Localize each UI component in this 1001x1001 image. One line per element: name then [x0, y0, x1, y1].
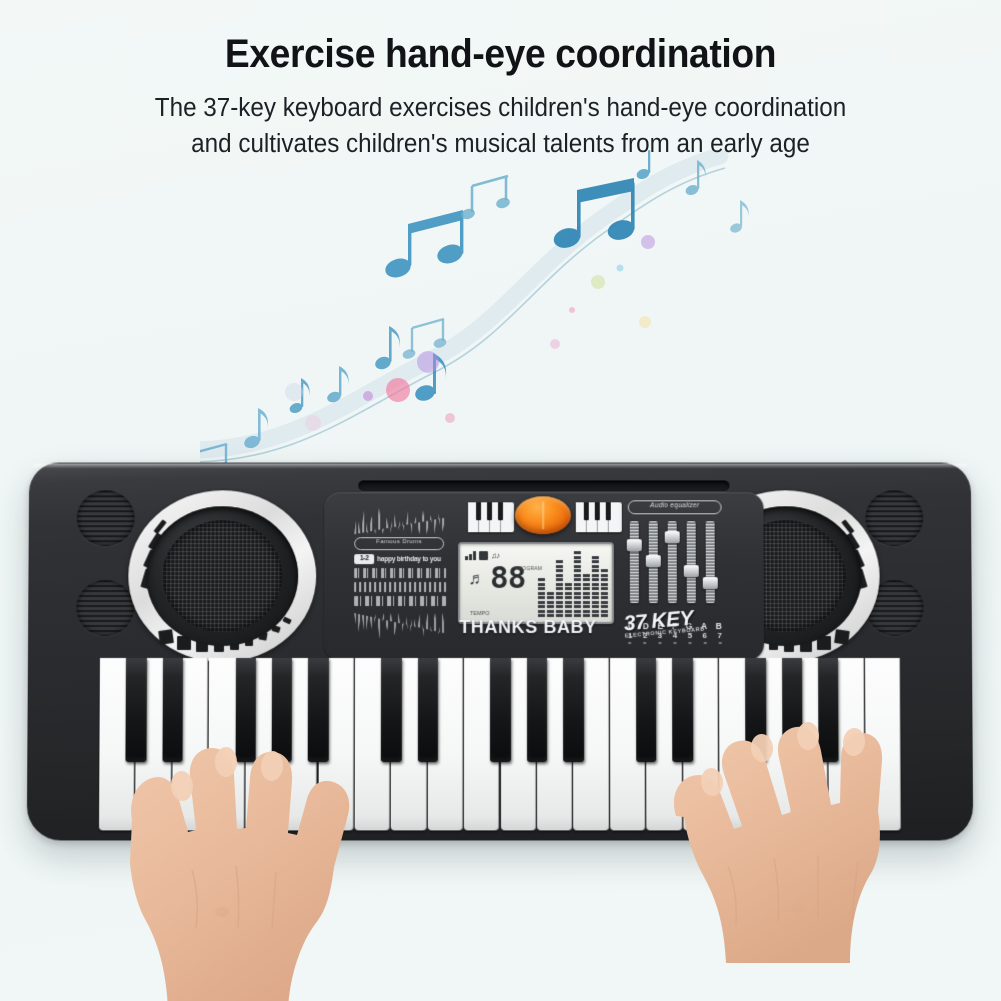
note-marks-row: = = = = = = = [628, 640, 722, 648]
black-key[interactable] [417, 658, 438, 762]
equalizer-slider[interactable] [706, 521, 715, 603]
notation-row-2 [354, 582, 446, 592]
spectrum-column [601, 569, 608, 617]
page-subtitle: The 37-key keyboard exercises children's… [25, 90, 976, 162]
black-key[interactable] [672, 658, 693, 762]
music-notes-swirl [200, 150, 760, 480]
instrument-icon: ♬ [465, 567, 489, 591]
note-mark: = [688, 640, 692, 648]
electronic-keyboard: Famous Drums 1-2 happy birthday to you [28, 462, 972, 840]
note-mark: = [628, 640, 632, 648]
note-mark: = [718, 640, 722, 648]
subtitle-line-1: The 37-key keyboard exercises children's… [25, 90, 976, 126]
spectrum-column [556, 560, 563, 617]
note-number: 7 [717, 631, 721, 640]
black-key[interactable] [308, 658, 329, 762]
black-keys-group [99, 658, 900, 762]
equalizer-slider-knob[interactable] [646, 555, 661, 567]
black-key[interactable] [126, 658, 147, 762]
black-key[interactable] [563, 658, 584, 762]
song-title-text: happy birthday to you [377, 556, 441, 563]
mini-black-key[interactable] [498, 502, 503, 520]
equalizer-slider-knob[interactable] [665, 531, 680, 543]
equalizer-slider[interactable] [630, 521, 639, 603]
spectrum-column [547, 592, 554, 617]
left-speaker-mesh [162, 520, 282, 632]
black-key[interactable] [162, 658, 183, 762]
body-top-highlight [31, 464, 969, 469]
lcd-display: ♫♪ ♬ PROGRAM 88 TEMPO [458, 542, 614, 624]
chart-wave-top-icon [354, 504, 446, 534]
mini-black-key[interactable] [487, 502, 492, 520]
lcd-left-group: ♫♪ ♬ PROGRAM 88 TEMPO [465, 548, 547, 618]
headline-block: Exercise hand-eye coordination The 37-ke… [0, 34, 1001, 162]
note-mark: = [658, 640, 662, 648]
battery-icon [479, 551, 488, 560]
subtitle-line-2: and cultivates children's musical talent… [25, 126, 976, 162]
music-stand-slot [358, 480, 729, 491]
note-mark: = [673, 640, 677, 648]
spectrum-column [565, 583, 572, 617]
song-notation-chart: Famous Drums 1-2 happy birthday to you [354, 504, 448, 650]
note-icon: ♫♪ [491, 551, 499, 560]
black-key[interactable] [527, 658, 547, 762]
power-demo-button[interactable] [515, 496, 571, 534]
lcd-status-icons: ♫♪ [465, 548, 547, 560]
product-marketing-image: Exercise hand-eye coordination The 37-ke… [0, 0, 1001, 1001]
spectrum-column [592, 556, 599, 617]
mini-black-key[interactable] [606, 502, 611, 520]
mini-keys-right-button[interactable] [576, 502, 622, 532]
song-title-row: 1-2 happy birthday to you [354, 554, 448, 564]
black-key[interactable] [745, 658, 766, 762]
left-speaker-cone [146, 506, 298, 646]
mini-black-key[interactable] [476, 502, 481, 520]
famous-drums-label: Famous Drums [354, 537, 444, 550]
brand-logo: THANKS BABY [438, 617, 618, 638]
black-key[interactable] [636, 658, 657, 762]
black-key[interactable] [235, 658, 256, 762]
notation-row-1 [354, 568, 446, 578]
page-title: Exercise hand-eye coordination [35, 34, 966, 74]
spectrum-column [574, 551, 581, 617]
lcd-spectrum-analyzer [538, 549, 608, 617]
equalizer-slider[interactable] [687, 521, 696, 603]
lcd-value-row: ♬ PROGRAM 88 [465, 564, 547, 593]
spectrum-column [538, 578, 545, 617]
note-mark: = [703, 640, 707, 648]
mini-keys-left-button[interactable] [468, 502, 514, 532]
volume-bars-icon [465, 551, 476, 560]
black-key[interactable] [818, 658, 839, 762]
black-key[interactable] [782, 658, 803, 762]
equalizer-slider-knob[interactable] [684, 565, 699, 577]
notation-row-3 [354, 596, 446, 606]
song-badge: 1-2 [354, 554, 374, 564]
black-key[interactable] [272, 658, 293, 762]
left-speaker [122, 486, 322, 666]
piano-keys [99, 658, 901, 830]
audio-equalizer-label: Audio equalizer [628, 500, 722, 514]
equalizer-slider-knob[interactable] [703, 577, 718, 589]
mini-black-key[interactable] [584, 502, 589, 520]
note-mark: = [643, 640, 647, 648]
mini-black-key[interactable] [595, 502, 600, 520]
equalizer-sliders [628, 521, 724, 605]
equalizer-slider-knob[interactable] [627, 539, 642, 551]
chart-wave-bottom-icon [354, 613, 446, 643]
black-key[interactable] [381, 658, 402, 762]
keyboard-body: Famous Drums 1-2 happy birthday to you [27, 463, 973, 841]
black-key[interactable] [490, 658, 510, 762]
spectrum-column [583, 574, 590, 617]
